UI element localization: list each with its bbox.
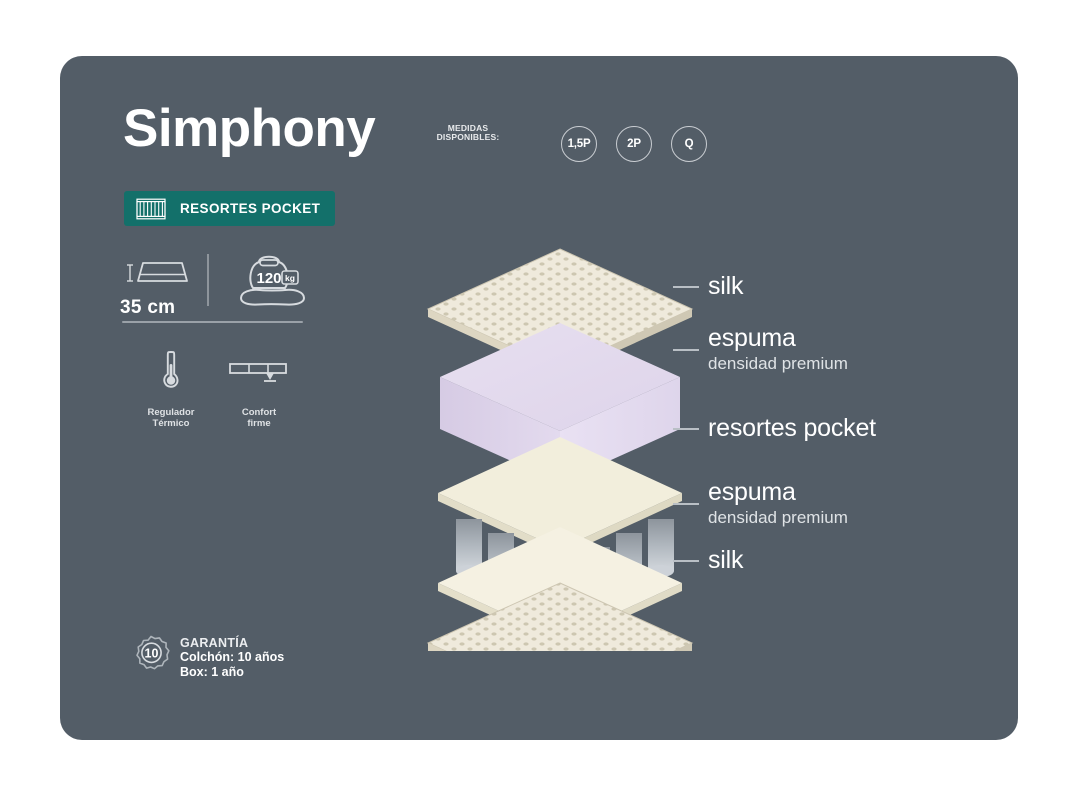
- measures-available-label: MEDIDAS DISPONIBLES:: [427, 124, 509, 142]
- callout-foam-bottom: espuma densidad premium: [673, 480, 848, 528]
- spec-weight-capacity: 120 kg: [236, 251, 310, 314]
- leader-line: [673, 428, 699, 430]
- feature-label: Confort firme: [214, 407, 304, 429]
- warranty-line-mattress: Colchón: 10 años: [180, 650, 284, 665]
- callout-foam-top: espuma densidad premium: [673, 326, 848, 374]
- warranty-block: 10 GARANTÍA Colchón: 10 años Box: 1 año: [132, 634, 284, 680]
- mattress-height-icon: [120, 273, 196, 290]
- callout-label: espuma: [708, 326, 848, 351]
- svg-text:kg: kg: [285, 273, 295, 283]
- pocket-springs-icon: [136, 198, 166, 220]
- measures-label-line2: DISPONIBLES:: [427, 133, 509, 142]
- callout-label: resortes pocket: [708, 414, 876, 442]
- leader-line: [673, 503, 699, 505]
- leader-line: [673, 286, 699, 288]
- leader-line: [673, 560, 699, 562]
- callout-label: silk: [708, 272, 743, 300]
- spring-type-badge[interactable]: RESORTES POCKET: [124, 191, 335, 226]
- svg-text:10: 10: [145, 646, 159, 660]
- callout-label: silk: [708, 546, 743, 574]
- feature-firm-comfort: Confort firme: [214, 348, 304, 429]
- size-badge-q[interactable]: Q: [671, 126, 707, 162]
- callout-sublabel: densidad premium: [708, 353, 848, 374]
- spec-divider-vertical: [207, 254, 209, 306]
- callout-label: espuma: [708, 480, 848, 505]
- callout-sublabel: densidad premium: [708, 507, 848, 528]
- callout-silk-bottom: silk: [673, 548, 743, 573]
- section-divider: [122, 321, 303, 323]
- spring-type-label: RESORTES POCKET: [180, 201, 320, 216]
- spec-height: 35 cm: [120, 256, 220, 319]
- thermometer-icon: [156, 381, 186, 398]
- page-title: Simphony: [123, 102, 375, 155]
- mattress-layers-diagram: [410, 231, 710, 651]
- size-badge-1-5p[interactable]: 1,5P: [561, 126, 597, 162]
- weight-capacity-icon: 120 kg: [236, 251, 310, 309]
- warranty-line-box: Box: 1 año: [180, 665, 284, 680]
- feature-label: Regulador Térmico: [126, 407, 216, 429]
- callout-silk-top: silk: [673, 274, 743, 299]
- size-badge-2p[interactable]: 2P: [616, 126, 652, 162]
- leader-line: [673, 349, 699, 351]
- warranty-seal-icon: 10: [132, 634, 170, 677]
- warranty-title: GARANTÍA: [180, 636, 284, 650]
- feature-thermal-regulator: Regulador Térmico: [126, 348, 216, 429]
- firm-comfort-icon: [228, 381, 290, 398]
- product-info-card: Simphony MEDIDAS DISPONIBLES: 1,5P 2P Q: [60, 56, 1018, 740]
- callout-pocket-springs: resortes pocket: [673, 416, 876, 441]
- svg-text:120: 120: [256, 270, 281, 287]
- spec-height-value: 35 cm: [120, 297, 220, 319]
